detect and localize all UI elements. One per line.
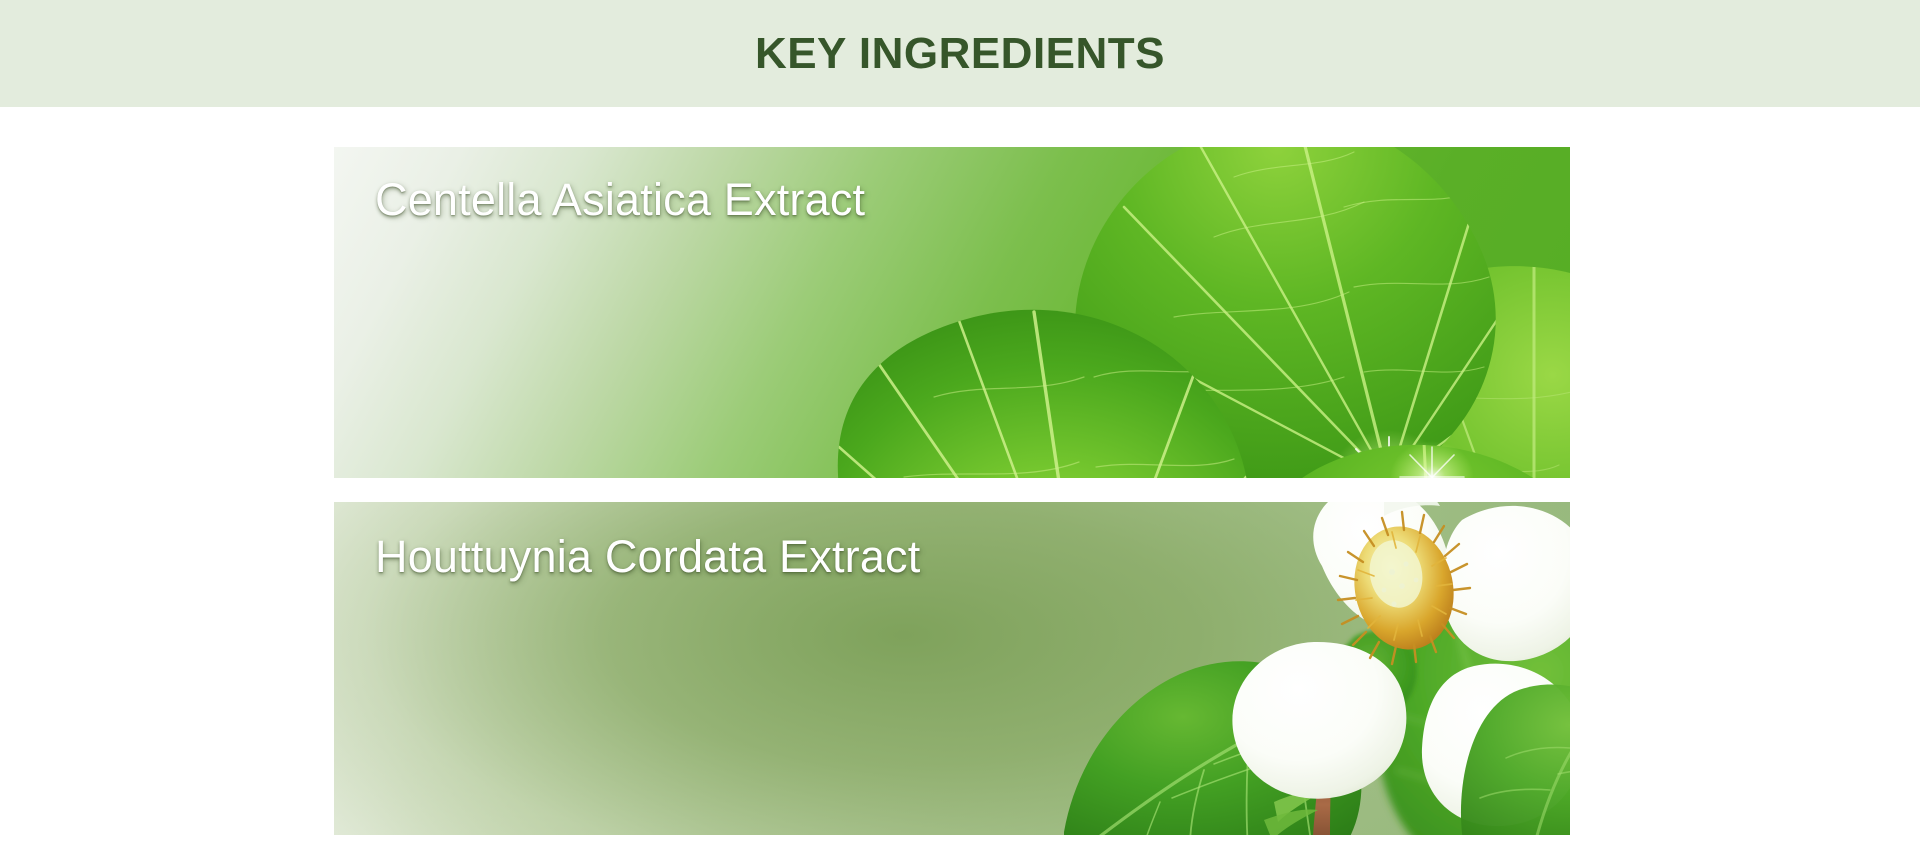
ingredient-title-centella: Centella Asiatica Extract: [375, 174, 865, 226]
ingredient-banner-centella[interactable]: Centella Asiatica Extract: [334, 147, 1570, 478]
ingredient-title-houttuynia: Houttuynia Cordata Extract: [375, 531, 920, 583]
ingredient-banner-houttuynia[interactable]: Houttuynia Cordata Extract: [334, 502, 1570, 835]
page-header: KEY INGREDIENTS: [0, 0, 1920, 107]
page-title: KEY INGREDIENTS: [755, 32, 1165, 76]
